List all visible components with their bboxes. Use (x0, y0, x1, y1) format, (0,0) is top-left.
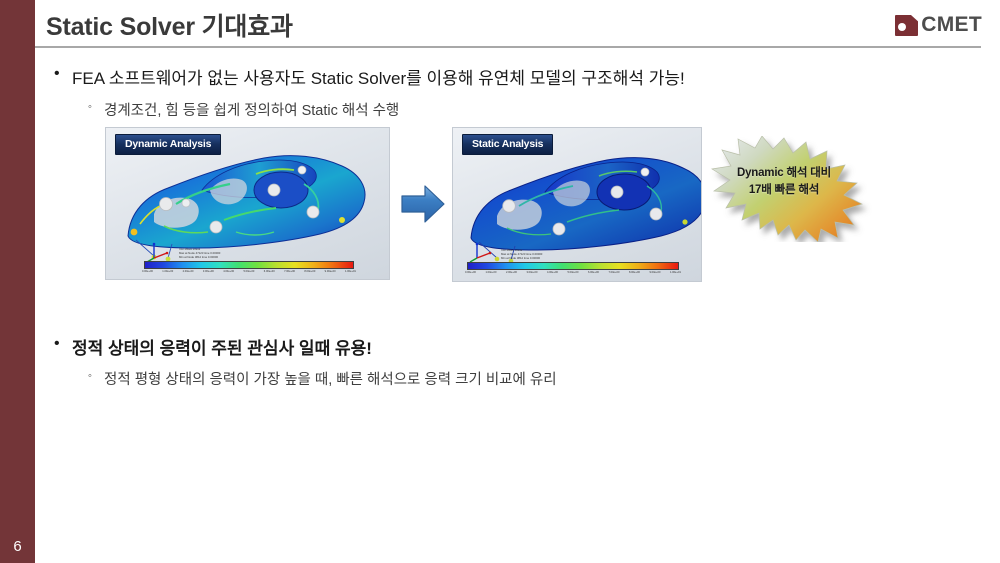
bullet-secondary-2-text: 정적 평형 상태의 응력이 가장 높을 때, 빠른 해석으로 응력 크기 비교에… (104, 368, 557, 389)
bullet-marker-icon: • (54, 334, 72, 354)
stress-colorbar-ticks-static: 0.00e+00 1.00e+00 2.00e+00 3.00e+00 4.00… (465, 272, 681, 275)
cmet-logo-mark-icon (895, 15, 918, 36)
left-accent-rail (0, 0, 35, 563)
axis-triad-icon (469, 240, 493, 264)
stress-colorbar-static (467, 262, 679, 270)
figure-static-caption: Von Mises stress Max at Node 47123 time … (501, 248, 542, 261)
speed-callout-text: Dynamic 해석 대비 17배 빠른 해석 (694, 165, 874, 198)
page-title: Static Solver 기대효과 (46, 7, 293, 43)
figure-static-analysis: Von Mises stress Max at Node 47123 time … (452, 127, 702, 282)
speed-callout-line-2: 17배 빠른 해석 (694, 182, 874, 199)
bullet-secondary-1: ◦ 경계조건, 힘 등을 쉽게 정의하여 Static 해석 수행 (88, 99, 399, 120)
stress-colorbar-ticks-dynamic: 0.00e+00 1.00e+00 2.00e+00 3.00e+00 4.00… (142, 271, 356, 274)
figure-static-label: Static Analysis (462, 134, 553, 155)
bullet-primary-2: • 정적 상태의 응력이 주된 관심사 일때 유용! (54, 334, 372, 359)
page-number: 6 (0, 538, 35, 555)
title-divider (35, 46, 981, 48)
sub-bullet-marker-icon: ◦ (88, 368, 104, 385)
figure-dynamic-caption: Von Mises stress Max at Node 47123 time … (179, 247, 220, 260)
bullet-primary-1: • FEA 소프트웨어가 없는 사용자도 Static Solver를 이용해 … (54, 64, 685, 89)
bullet-marker-icon: • (54, 64, 72, 84)
bullet-primary-1-text: FEA 소프트웨어가 없는 사용자도 Static Solver를 이용해 유연… (72, 64, 685, 89)
figure-dynamic-analysis: Von Mises stress Max at Node 47123 time … (105, 127, 390, 280)
cmet-logo-text: CMET (921, 13, 982, 37)
stress-colorbar-dynamic (144, 261, 354, 269)
bullet-secondary-2: ◦ 정적 평형 상태의 응력이 가장 높을 때, 빠른 해석으로 응력 크기 비… (88, 368, 557, 389)
transition-arrow-icon (399, 182, 447, 226)
speed-callout: Dynamic 해석 대비 17배 빠른 해석 (694, 136, 874, 242)
bullet-primary-2-text: 정적 상태의 응력이 주된 관심사 일때 유용! (72, 334, 372, 359)
figure-dynamic-label: Dynamic Analysis (115, 134, 221, 155)
bullet-secondary-1-text: 경계조건, 힘 등을 쉽게 정의하여 Static 해석 수행 (104, 99, 399, 120)
sub-bullet-marker-icon: ◦ (88, 99, 104, 116)
speed-callout-line-1: Dynamic 해석 대비 (694, 165, 874, 182)
cmet-logo: CMET (895, 13, 982, 37)
